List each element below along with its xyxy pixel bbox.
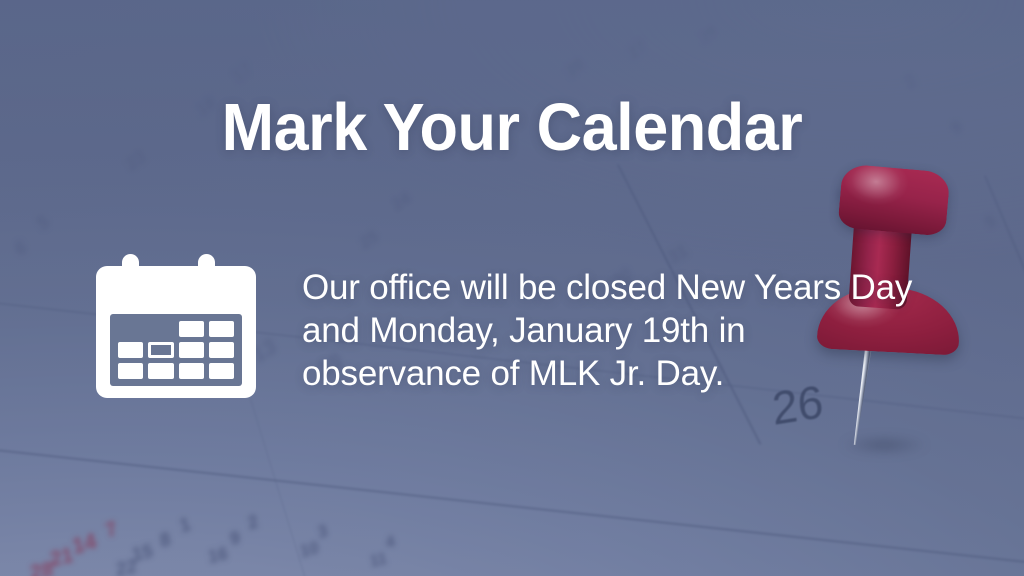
calendar-day-cell [209, 363, 234, 379]
calendar-day-cell [209, 342, 234, 358]
banner-content: Mark Your Calendar Our office will be cl… [0, 0, 1024, 576]
calendar-day-cell [148, 363, 173, 379]
calendar-day-cell [179, 342, 204, 358]
announcement-message: Our office will be closed New Years Daya… [302, 266, 992, 395]
mark-your-calendar-banner: 7142128181522291631041113191256231718242… [0, 0, 1024, 576]
page-title: Mark Your Calendar [31, 92, 994, 164]
announcement-line: Our office will be closed New Years Day [302, 266, 992, 309]
calendar-inner-panel [110, 314, 242, 386]
announcement-line: and Monday, January 19th in [302, 309, 992, 352]
calendar-day-cell [118, 342, 143, 358]
calendar-body [96, 266, 256, 398]
calendar-day-cell [148, 321, 173, 337]
calendar-day-cell [179, 363, 204, 379]
calendar-icon [96, 254, 256, 398]
announcement-line: observance of MLK Jr. Day. [302, 352, 992, 395]
calendar-day-cell [148, 342, 173, 358]
calendar-day-cell [118, 363, 143, 379]
calendar-day-cell [179, 321, 204, 337]
calendar-day-cell [118, 321, 143, 337]
calendar-day-cell [209, 321, 234, 337]
calendar-day-grid [118, 321, 234, 379]
